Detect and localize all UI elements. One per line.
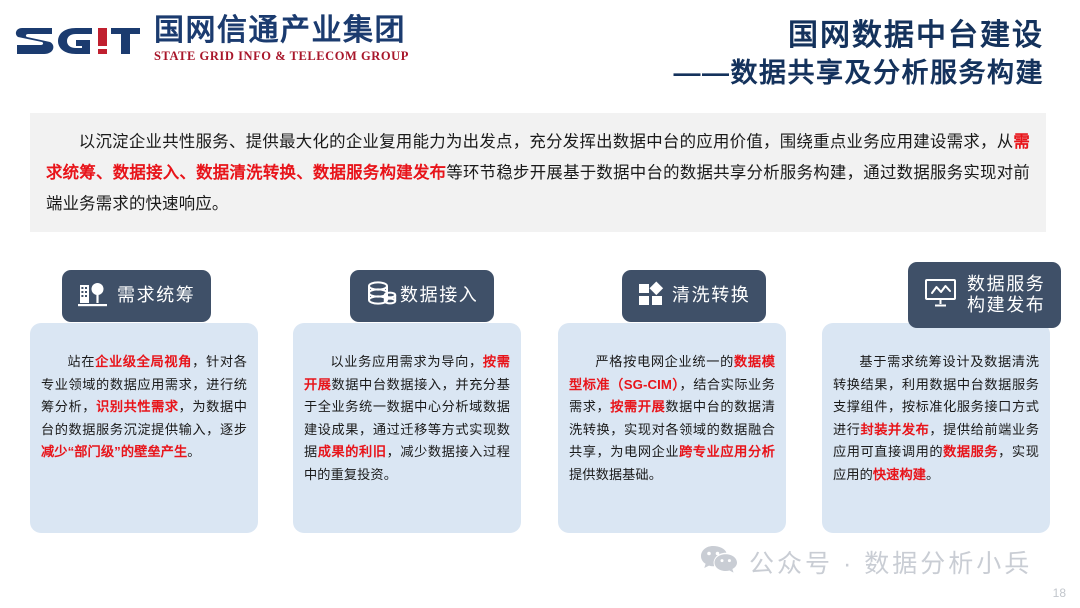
- card-body-text: 基于需求统筹设计及数据清洗转换结果，利用数据中台数据服务支撑组件，按标准化服务接…: [833, 351, 1039, 486]
- badge-label: 数据服务 构建发布: [967, 274, 1045, 316]
- squares-diamond-icon: [638, 281, 666, 312]
- title-subtitle: ——数据共享及分析服务构建: [674, 57, 1045, 91]
- badge-requirement-planning[interactable]: 需求统筹: [62, 270, 211, 322]
- badge-label: 清洗转换: [672, 285, 750, 306]
- company-name-cn: 国网信通产业集团: [154, 14, 409, 48]
- intro-paragraph: 以沉淀企业共性服务、提供最大化的企业复用能力为出发点，充分发挥出数据中台的应用价…: [46, 127, 1030, 220]
- card-requirement-planning[interactable]: 站在企业级全局视角，针对各专业领域的数据应用需求，进行统筹分析，识别共性需求，为…: [30, 323, 258, 533]
- footer-text: 公众号 · 数据分析小兵: [749, 544, 1032, 580]
- card-data-ingestion[interactable]: 以业务应用需求为导向，按需开展数据中台数据接入，并充分基于全业务统一数据中心分析…: [293, 323, 521, 533]
- card-body-text: 严格按电网企业统一的数据模型标准（SG-CIM），结合实际业务需求，按需开展数据…: [569, 351, 775, 486]
- title-main: 国网数据中台建设: [674, 18, 1045, 55]
- card-data-service-publish[interactable]: 基于需求统筹设计及数据清洗转换结果，利用数据中台数据服务支撑组件，按标准化服务接…: [822, 323, 1050, 533]
- page-title: 国网数据中台建设 ——数据共享及分析服务构建: [674, 18, 1045, 90]
- chart-board-icon: [924, 277, 958, 314]
- badge-cleansing-transformation[interactable]: 清洗转换: [622, 270, 766, 322]
- badge-label: 数据接入: [400, 285, 478, 306]
- brand-logo: 国网信通产业集团 STATE GRID INFO & TELECOM GROUP: [14, 14, 409, 64]
- building-tree-icon: [78, 280, 108, 313]
- company-name-en: STATE GRID INFO & TELECOM GROUP: [154, 49, 409, 65]
- footer-watermark: 公众号 · 数据分析小兵: [700, 543, 1032, 580]
- brand-text: 国网信通产业集团 STATE GRID INFO & TELECOM GROUP: [154, 14, 409, 64]
- wechat-icon: [700, 543, 738, 580]
- badge-data-ingestion[interactable]: 数据接入: [350, 270, 494, 322]
- card-body-text: 站在企业级全局视角，针对各专业领域的数据应用需求，进行统筹分析，识别共性需求，为…: [41, 351, 247, 464]
- card-body-text: 以业务应用需求为导向，按需开展数据中台数据接入，并充分基于全业务统一数据中心分析…: [304, 351, 510, 486]
- page-number: 18: [1053, 586, 1066, 600]
- badge-data-service-publish[interactable]: 数据服务 构建发布: [908, 262, 1061, 328]
- sgit-logo-mark: [14, 16, 140, 62]
- slide-canvas: 国网信通产业集团 STATE GRID INFO & TELECOM GROUP…: [0, 0, 1080, 608]
- card-cleansing-transformation[interactable]: 严格按电网企业统一的数据模型标准（SG-CIM），结合实际业务需求，按需开展数据…: [558, 323, 786, 533]
- badge-label: 需求统筹: [117, 285, 195, 306]
- intro-panel: 以沉淀企业共性服务、提供最大化的企业复用能力为出发点，充分发挥出数据中台的应用价…: [30, 113, 1046, 232]
- database-stack-icon: [366, 279, 398, 314]
